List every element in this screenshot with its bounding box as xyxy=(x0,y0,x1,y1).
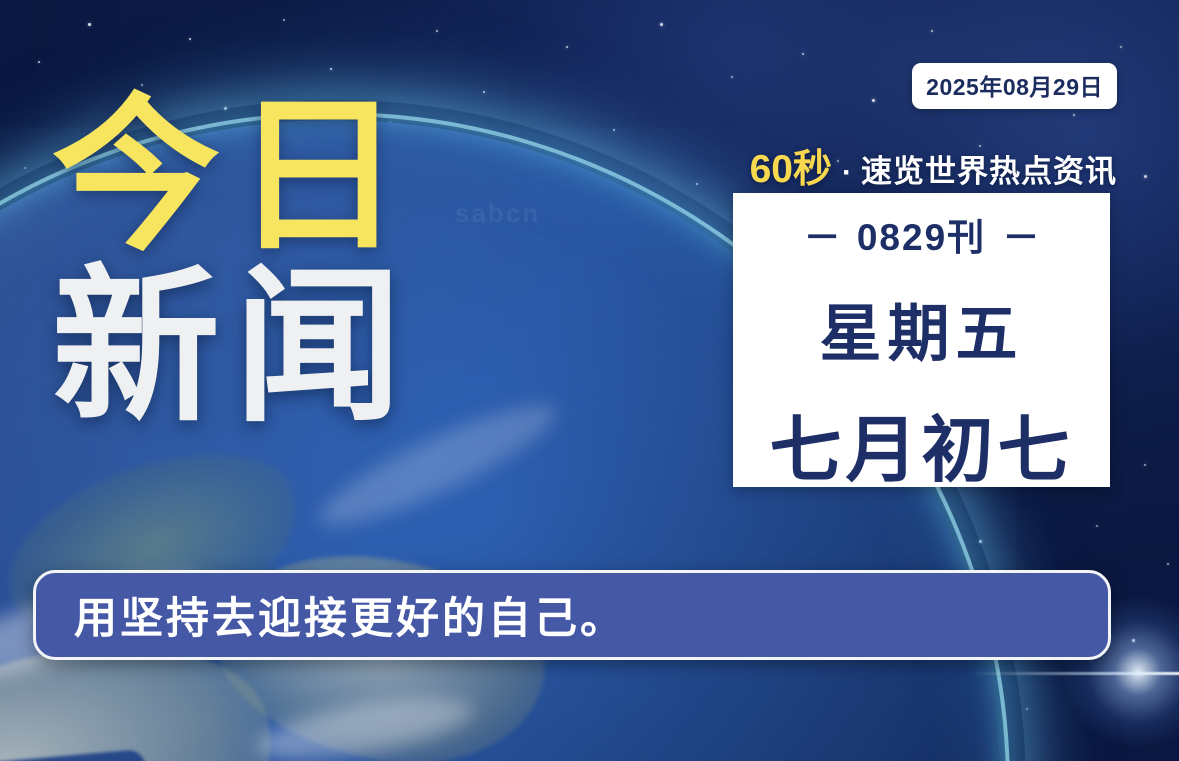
star-flare-streak xyxy=(969,672,1179,675)
lunar-date-text: 七月初七 xyxy=(769,391,1073,496)
title-line-xinwen: 新闻 xyxy=(52,267,416,428)
issue-row: － 0829刊 － xyxy=(800,207,1044,261)
issue-dash-left: － xyxy=(800,217,845,258)
tagline-text: 速览世界热点资讯 xyxy=(861,146,1117,191)
quote-banner: 用坚持去迎接更好的自己。 xyxy=(33,570,1111,660)
info-card: － 0829刊 － 星期五 七月初七 xyxy=(733,193,1110,487)
date-badge: 2025年08月29日 xyxy=(912,63,1117,109)
watermark: sabcn xyxy=(455,198,540,229)
tagline: 60秒 · 速览世界热点资讯 xyxy=(750,138,1117,194)
quote-text: 用坚持去迎接更好的自己。 xyxy=(36,584,626,646)
tagline-highlight: 60秒 xyxy=(750,138,832,194)
title-line-jinri: 今日 xyxy=(52,96,416,257)
issue-label: 0829刊 xyxy=(857,217,986,258)
weekday-text: 星期五 xyxy=(819,283,1023,373)
news-poster: sabcn 今日 新闻 2025年08月29日 60秒 · 速览世界热点资讯 －… xyxy=(0,0,1179,761)
poster-title: 今日 新闻 xyxy=(52,96,416,429)
issue-dash-right: － xyxy=(998,217,1043,258)
tagline-separator-dot: · xyxy=(842,156,852,190)
